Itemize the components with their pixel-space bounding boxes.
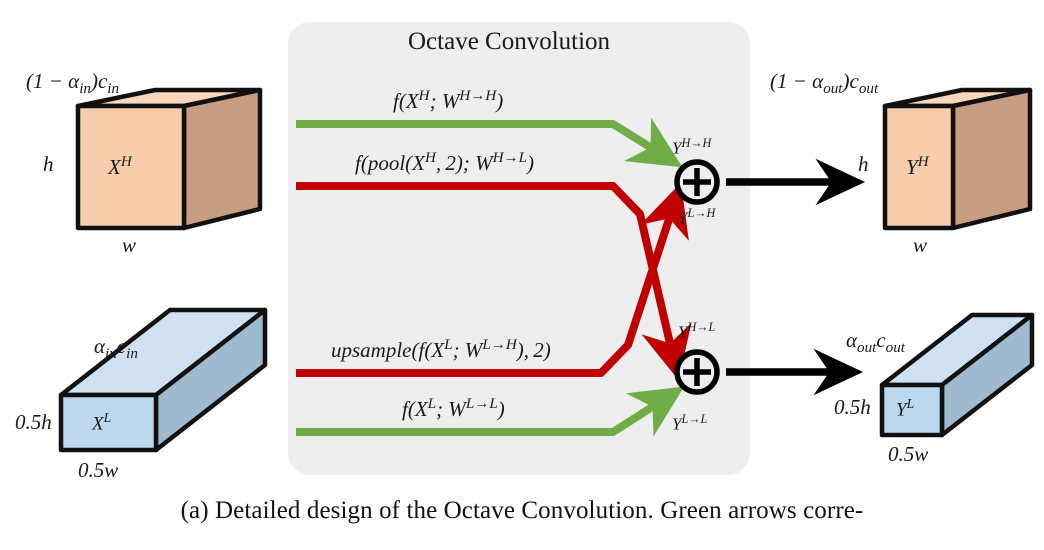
sum-operator-low <box>677 352 717 392</box>
figure-canvas: Octave Convolution (1 − αin)cin h w XH α… <box>0 0 1044 550</box>
input-low-height-label: 0.5h <box>15 410 52 435</box>
output-low-width-label: 0.5w <box>888 442 928 467</box>
output-low-height-label: 0.5h <box>834 395 871 420</box>
input-low-channel-label: αincin <box>94 334 138 363</box>
op-label-h-to-l: f(pool(XH, 2); WH→L) <box>355 150 534 176</box>
result-label-l-to-l: YL→L <box>672 412 707 435</box>
panel-title: Octave Convolution <box>408 28 610 56</box>
output-low-tensor-label: YL <box>896 396 914 421</box>
output-high-tensor-label: YH <box>906 154 929 180</box>
input-high-height-label: h <box>43 152 54 177</box>
op-label-l-to-h: upsample(f(XL; WL→H), 2) <box>331 337 551 363</box>
diagram-vector-layer <box>0 0 1044 550</box>
op-label-h-to-h: f(XH; WH→H) <box>393 88 503 114</box>
op-label-l-to-l: f(XL; WL→L) <box>402 396 505 422</box>
input-high-width-label: w <box>122 233 136 258</box>
input-high-frequency-cube <box>78 90 260 228</box>
input-low-tensor-label: XL <box>92 410 111 435</box>
figure-caption: (a) Detailed design of the Octave Convol… <box>0 497 1044 525</box>
result-label-h-to-l: YH→L <box>678 320 715 343</box>
result-label-l-to-h: YL→H <box>678 206 715 229</box>
input-high-tensor-label: XH <box>108 154 132 180</box>
input-low-width-label: 0.5w <box>78 458 118 483</box>
input-high-channel-label: (1 − αin)cin <box>26 69 119 98</box>
sum-operator-high <box>677 162 717 202</box>
output-high-channel-label: (1 − αout)cout <box>770 69 878 98</box>
output-high-width-label: w <box>913 233 927 258</box>
octave-convolution-panel <box>288 22 750 475</box>
output-high-height-label: h <box>858 152 869 177</box>
result-label-h-to-h: YH→H <box>672 136 711 159</box>
output-low-channel-label: αoutcout <box>846 328 905 357</box>
